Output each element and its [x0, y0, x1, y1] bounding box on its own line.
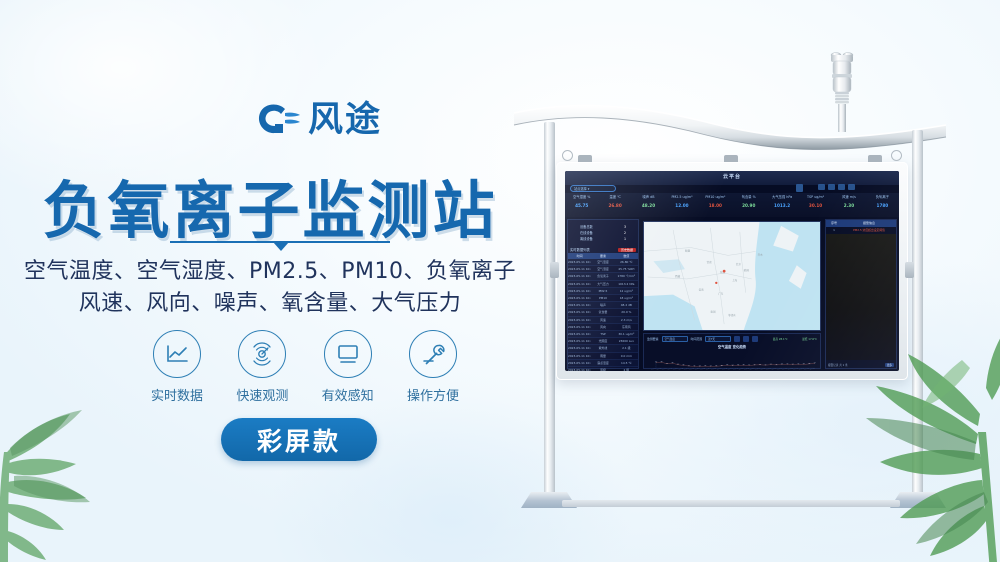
table-body[interactable]: 2023-05-11 10:20空气温度26.80 ℃2023-05-11 10…: [568, 259, 638, 371]
table-cell: 48.2 dB: [615, 302, 638, 308]
svg-text:西藏: 西藏: [675, 274, 681, 278]
table-cell: 2023-05-11 10:20: [568, 259, 591, 265]
mount-hook-icon: [868, 155, 882, 162]
history-button[interactable]: 历史数据: [618, 248, 636, 252]
device-stats: 设备总数3在线设备2离线设备1: [568, 220, 638, 244]
kpi-label: 负氧离子: [866, 194, 899, 201]
table-cell: 风速: [591, 317, 614, 323]
dashboard-screen[interactable]: 云平台 站点选择 ▾ 空气湿度 %45.75温度 ℃26.80噪声 dB48.2…: [565, 171, 899, 371]
kpi-value: 26.80: [598, 201, 631, 210]
table-cell: 露点温度: [591, 360, 614, 366]
table-cell: 2023-05-11 10:20: [568, 288, 591, 294]
table-row[interactable]: 2023-05-11 10:20风向东南风: [568, 324, 638, 331]
table-cell: 14.5 ℃: [615, 360, 638, 366]
left-data-panel: 设备总数3在线设备2离线设备1 实时数据列表 历史数据 时间要素数值 2023-…: [567, 219, 639, 369]
table-cell: 2023-05-11 10:20: [568, 353, 591, 359]
kpi-item: 氧含量 %20.90: [732, 193, 765, 217]
kpi-item: 大气压强 hPa1013.2: [765, 193, 798, 217]
kpi-value: 18.00: [699, 201, 732, 210]
brand-logo: 风途: [255, 100, 382, 140]
table-row[interactable]: 2023-05-11 10:20负氧离子1780 个/cm³: [568, 273, 638, 280]
svg-text:上海: 上海: [732, 278, 738, 282]
table-cell: 风向: [591, 324, 614, 330]
table-cell: 东南风: [615, 324, 638, 330]
kpi-label: 噪声 dB: [632, 194, 665, 201]
export-icon[interactable]: [838, 184, 845, 190]
table-cell: 风级: [591, 367, 614, 371]
chart-icon[interactable]: [828, 184, 835, 190]
grid-icon[interactable]: [818, 184, 825, 190]
table-cell: PM2.5: [591, 288, 614, 294]
stat-label: 离线设备: [580, 236, 593, 242]
table-row[interactable]: 2023-05-11 10:20风速2.3 m/s: [568, 317, 638, 324]
table-cell: TSP: [591, 331, 614, 337]
kpi-label: 大气压强 hPa: [765, 194, 798, 201]
promo-banner: 风途 负氧离子监测站 空气温度、空气湿度、PM2.5、PM10、负氧离子 风速、…: [0, 0, 1000, 562]
feature-item-realtime-data[interactable]: 实时数据: [140, 330, 214, 404]
feature-item-effective-sensing[interactable]: 有效感知: [311, 330, 385, 404]
table-cell: 2023-05-11 10:20: [568, 281, 591, 287]
table-cell: 2023-05-11 10:20: [568, 331, 591, 337]
table-cell: 20.9 %: [615, 309, 638, 315]
svg-text:甘肃: 甘肃: [706, 260, 712, 264]
table-cell: 30.1 ug/m³: [615, 331, 638, 337]
alarm-rows[interactable]: 1PM2.5 浓度超出设定阈值: [826, 227, 896, 234]
kpi-value: 30.10: [799, 201, 832, 210]
feature-label: 实时数据: [151, 385, 203, 404]
table-row[interactable]: 2023-05-11 10:20氧含量20.9 %: [568, 309, 638, 316]
table-cell: 23600 Lux: [615, 338, 638, 344]
svg-text:韩国: 韩国: [744, 268, 750, 272]
kpi-label: 氧含量 %: [732, 194, 765, 201]
table-cell: 45.75 %RH: [615, 266, 638, 272]
feature-item-fast-observation[interactable]: 快速观测: [225, 330, 299, 404]
mount-hook-icon: [578, 155, 592, 162]
alarm-footer: 报警记录 共 1 条 更多: [828, 363, 894, 367]
kpi-label: 温度 ℃: [598, 194, 631, 201]
refresh-icon[interactable]: [796, 184, 803, 192]
table-cell: 0.0 mm: [615, 353, 638, 359]
support-post-icon: [912, 130, 923, 497]
alarm-background-photo: [826, 234, 896, 360]
time-select[interactable]: 近7天: [705, 336, 731, 342]
kpi-value: 20.90: [732, 201, 765, 210]
kpi-value: 48.20: [632, 201, 665, 210]
alarm-panel: 序号报警信息 1PM2.5 浓度超出设定阈值 报警记录 共 1 条 更多: [825, 219, 897, 369]
cta-label: 彩屏款: [257, 422, 341, 458]
svg-text:北京: 北京: [736, 262, 742, 266]
chart-export-button[interactable]: [752, 336, 758, 342]
feature-label: 快速观测: [236, 385, 288, 404]
side-lock-icon: [905, 262, 914, 278]
stat-value: 1: [624, 236, 626, 242]
table-cell: 2023-05-11 10:20: [568, 324, 591, 330]
table-title: 实时数据列表: [570, 247, 590, 252]
table-row[interactable]: 2023-05-11 10:20光照度23600 Lux: [568, 338, 638, 345]
table-cell: 大气压力: [591, 281, 614, 287]
wrench-icon: [409, 330, 457, 378]
table-cell: 2023-05-11 10:20: [568, 367, 591, 371]
table-row[interactable]: 2023-05-11 10:20紫外线2.1 级: [568, 345, 638, 352]
feature-label: 操作方便: [407, 385, 459, 404]
table-cell: 2023-05-11 10:20: [568, 273, 591, 279]
table-cell: 2023-05-11 10:20: [568, 266, 591, 272]
kpi-item: 噪声 dB48.20: [632, 193, 665, 217]
svg-text:新疆: 新疆: [685, 248, 691, 252]
display-enclosure: 云平台 站点选择 ▾ 空气湿度 %45.75温度 ℃26.80噪声 dB48.2…: [556, 162, 908, 380]
radar-scan-icon: [238, 330, 286, 378]
table-cell: 氧含量: [591, 309, 614, 315]
param-label: 监测要素: [647, 337, 659, 341]
kpi-label: PM10 ug/m³: [699, 194, 732, 201]
dashboard-title: 云平台: [565, 173, 899, 180]
svg-text:日本: 日本: [758, 252, 764, 256]
table-cell: 紫外线: [591, 345, 614, 351]
x-tick-label: 05-11 06: [809, 368, 816, 370]
table-row[interactable]: 2023-05-11 10:20雨量0.0 mm: [568, 353, 638, 360]
table-cell: 2023-05-11 10:20: [568, 317, 591, 323]
feature-list: 实时数据 快速观测: [140, 330, 470, 404]
table-cell: 2 级: [615, 367, 638, 371]
trend-chart-panel: 监测要素 空气温度 时间范围 近7天 最高 28.1℃ 最低 17.6℃ 空气温…: [643, 333, 821, 369]
table-row[interactable]: 2023-05-11 10:20PM1018 ug/m³: [568, 295, 638, 302]
chart-plot: 05-04 0005-04 0605-04 1205-04 1805-05 00…: [647, 356, 817, 366]
leaf-c-mark-icon: [255, 100, 301, 140]
svg-text:云南: 云南: [699, 288, 705, 292]
table-row[interactable]: 2023-05-11 10:20空气温度26.80 ℃: [568, 259, 638, 266]
table-row[interactable]: 2023-05-11 10:20大气压力1013.2 hPa: [568, 281, 638, 288]
param-select[interactable]: 空气温度: [662, 336, 688, 342]
kpi-label: TSP ug/m³: [799, 194, 832, 201]
table-row[interactable]: 2023-05-11 10:20空气湿度45.75 %RH: [568, 266, 638, 273]
subtitle-line-2: 风速、风向、噪声、氧含量、大气压力: [0, 288, 540, 320]
table-cell: 1013.2 hPa: [615, 281, 638, 287]
table-cell: 噪声: [591, 302, 614, 308]
table-row[interactable]: 2023-05-11 10:20风级2 级: [568, 367, 638, 371]
table-cell: 18 ug/m³: [615, 295, 638, 301]
device-stat-row: 离线设备1: [572, 236, 634, 242]
title-divider: [170, 238, 390, 250]
kpi-value: 1013.2: [765, 201, 798, 210]
feature-item-easy-operation[interactable]: 操作方便: [396, 330, 470, 404]
kpi-label: 风速 m/s: [832, 194, 865, 201]
support-post-icon: [544, 122, 555, 497]
triangle-down-icon: [273, 242, 289, 251]
monitoring-station-product: 云平台 站点选择 ▾ 空气湿度 %45.75温度 ℃26.80噪声 dB48.2…: [500, 0, 1000, 562]
table-row[interactable]: 2023-05-11 10:20TSP30.1 ug/m³: [568, 331, 638, 338]
table-cell: 空气温度: [591, 259, 614, 265]
table-cell: 2.3 m/s: [615, 317, 638, 323]
alarm-more-button[interactable]: 更多: [885, 363, 894, 367]
kpi-strip: 空气湿度 %45.75温度 ℃26.80噪声 dB48.20PM2.5 ug/m…: [565, 193, 899, 217]
chart-type-bar-button[interactable]: [734, 336, 740, 342]
table-cell: 2.1 级: [615, 345, 638, 351]
kpi-item: TSP ug/m³30.10: [799, 193, 832, 217]
kpi-value: 45.75: [565, 201, 598, 210]
chart-controls[interactable]: 监测要素 空气温度 时间范围 近7天 最高 28.1℃ 最低 17.6℃: [644, 334, 820, 344]
mount-ring-icon: [891, 150, 902, 161]
table-cell: PM10: [591, 295, 614, 301]
line-chart-icon: [153, 330, 201, 378]
station-selector[interactable]: 站点选择 ▾: [570, 185, 616, 192]
table-cell: 2023-05-11 10:20: [568, 360, 591, 366]
kpi-label: PM2.5 ug/m³: [665, 194, 698, 201]
table-cell: 12 ug/m³: [615, 288, 638, 294]
chart-stat-min: 最低 17.6℃: [802, 337, 817, 341]
chart-type-line-button[interactable]: [743, 336, 749, 342]
time-label: 时间范围: [691, 337, 703, 341]
mount-hook-icon: [724, 155, 738, 162]
table-row[interactable]: 2023-05-11 10:20PM2.512 ug/m³: [568, 288, 638, 295]
monitor-icon: [324, 330, 372, 378]
table-cell: 2023-05-11 10:20: [568, 309, 591, 315]
alarm-column-headers: 序号报警信息: [826, 220, 896, 227]
kpi-item: 空气湿度 %45.75: [565, 193, 598, 217]
side-lock-icon: [550, 262, 559, 278]
kpi-value: 12.00: [665, 201, 698, 210]
table-cell: 负氧离子: [591, 273, 614, 279]
table-cell: 1780 个/cm³: [615, 273, 638, 279]
product-variant-button[interactable]: 彩屏款: [221, 418, 377, 461]
subtitle-block: 空气温度、空气湿度、PM2.5、PM10、负氧离子 风速、风向、噪声、氧含量、大…: [0, 256, 540, 320]
kpi-value: 2.30: [832, 201, 865, 210]
table-cell: 空气湿度: [591, 266, 614, 272]
table-cell: 2023-05-11 10:20: [568, 345, 591, 351]
kpi-item: PM2.5 ug/m³12.00: [665, 193, 698, 217]
kpi-item: 风速 m/s2.30: [832, 193, 865, 217]
alarm-cell: PM2.5 浓度超出设定阈值: [842, 227, 896, 234]
screen-toolbar[interactable]: [818, 184, 855, 190]
table-cell: 2023-05-11 10:20: [568, 302, 591, 308]
feature-label: 有效感知: [322, 385, 374, 404]
kpi-value: 1780: [866, 201, 899, 210]
page-title: 负氧离子监测站: [0, 160, 540, 250]
table-cell: 26.80 ℃: [615, 259, 638, 265]
chart-stat-max: 最高 28.1℃: [773, 337, 788, 341]
kpi-label: 空气湿度 %: [565, 194, 598, 201]
kpi-item: 负氧离子1780: [866, 193, 899, 217]
base-rail: [562, 500, 900, 507]
table-row[interactable]: 2023-05-11 10:20噪声48.2 dB: [568, 302, 638, 309]
settings-icon[interactable]: [848, 184, 855, 190]
chart-axes: [656, 362, 815, 369]
kpi-item: 温度 ℃26.80: [598, 193, 631, 217]
alarm-cell: 1: [826, 227, 842, 234]
station-map[interactable]: 新疆西藏 甘肃陕西 北京上海 广东云南 日本韩国 泰国菲律宾: [643, 221, 821, 331]
table-cell: 2023-05-11 10:20: [568, 338, 591, 344]
text-column: 风途 负氧离子监测站 空气温度、空气湿度、PM2.5、PM10、负氧离子 风速、…: [0, 0, 540, 562]
subtitle-line-1: 空气温度、空气湿度、PM2.5、PM10、负氧离子: [0, 256, 540, 288]
svg-text:泰国: 泰国: [710, 309, 716, 313]
table-row[interactable]: 2023-05-11 10:20露点温度14.5 ℃: [568, 360, 638, 367]
alarm-column-header: 报警信息: [842, 220, 896, 227]
chart-title: 空气温度 变化趋势: [644, 344, 820, 350]
table-cell: 2023-05-11 10:20: [568, 295, 591, 301]
dashboard-body: 设备总数3在线设备2离线设备1 实时数据列表 历史数据 时间要素数值 2023-…: [565, 219, 899, 371]
data-table-header: 实时数据列表 历史数据: [570, 247, 636, 252]
svg-text:菲律宾: 菲律宾: [728, 313, 736, 317]
kpi-item: PM10 ug/m³18.00: [699, 193, 732, 217]
brand-name: 风途: [308, 103, 382, 138]
alarm-count: 报警记录 共 1 条: [828, 363, 848, 367]
alarm-column-header: 序号: [826, 220, 842, 227]
mount-ring-icon: [562, 150, 573, 161]
table-cell: 光照度: [591, 338, 614, 344]
alarm-row[interactable]: 1PM2.5 浓度超出设定阈值: [826, 227, 896, 234]
svg-text:广东: 广东: [718, 292, 724, 296]
chart-line-series: [656, 362, 815, 366]
curved-canopy-icon: [510, 95, 950, 155]
table-cell: 雨量: [591, 353, 614, 359]
